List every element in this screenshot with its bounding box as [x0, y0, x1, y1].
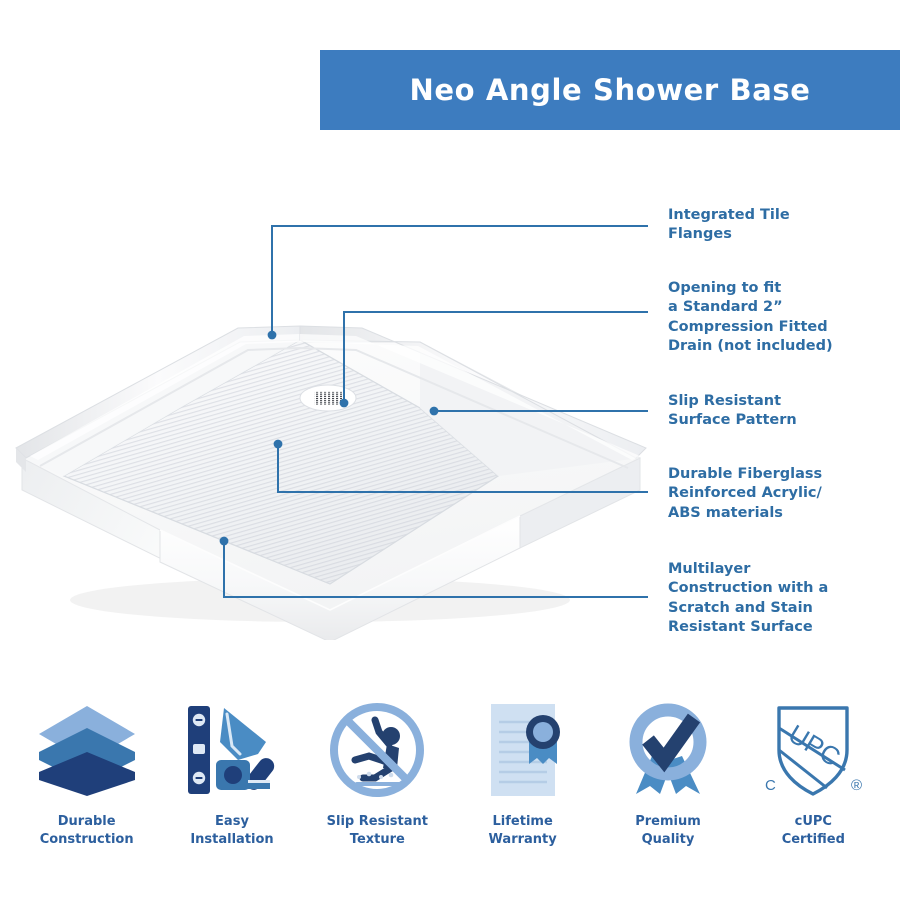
feature-cupc-certified: UPC C ® cUPC Certified [741, 695, 886, 848]
feature-label-premium-quality: Premium Quality [635, 813, 701, 848]
feature-label-slip-resistant: Slip Resistant Texture [327, 813, 428, 848]
feature-label-cupc-certified: cUPC Certified [782, 813, 845, 848]
feature-badge-row: Durable Construction [0, 695, 900, 870]
infographic-canvas: Neo Angle Shower Base [0, 0, 900, 900]
stacked-layers-icon [35, 695, 139, 805]
feature-durable-construction: Durable Construction [14, 695, 159, 848]
drain-assembly [300, 385, 356, 411]
header-banner: Neo Angle Shower Base [320, 50, 900, 130]
check-rosette-icon [616, 695, 720, 805]
callout-label-materials: Durable Fiberglass Reinforced Acrylic/ A… [668, 465, 822, 523]
feature-label-durable-construction: Durable Construction [40, 813, 134, 848]
no-slipping-icon [325, 695, 429, 805]
feature-label-lifetime-warranty: Lifetime Warranty [489, 813, 557, 848]
feature-easy-installation: Easy Installation [159, 695, 304, 848]
feature-premium-quality: Premium Quality [595, 695, 740, 848]
certificate-seal-icon [471, 695, 575, 805]
callout-label-multilayer: Multilayer Construction with a Scratch a… [668, 560, 828, 637]
callout-label-tile-flanges: Integrated Tile Flanges [668, 206, 790, 245]
feature-label-easy-installation: Easy Installation [190, 813, 273, 848]
feature-lifetime-warranty: Lifetime Warranty [450, 695, 595, 848]
page-title: Neo Angle Shower Base [409, 73, 810, 107]
product-illustration [0, 280, 660, 640]
upc-shield-icon: UPC C ® [757, 695, 869, 805]
level-trowel-tape-icon [180, 695, 284, 805]
upc-right-mark: ® [851, 777, 862, 794]
upc-left-mark: C [765, 777, 776, 794]
feature-slip-resistant: Slip Resistant Texture [305, 695, 450, 848]
callout-label-drain: Opening to fit a Standard 2” Compression… [668, 279, 833, 356]
callout-label-slip-resistant: Slip Resistant Surface Pattern [668, 392, 797, 431]
drain-grate [314, 391, 342, 404]
